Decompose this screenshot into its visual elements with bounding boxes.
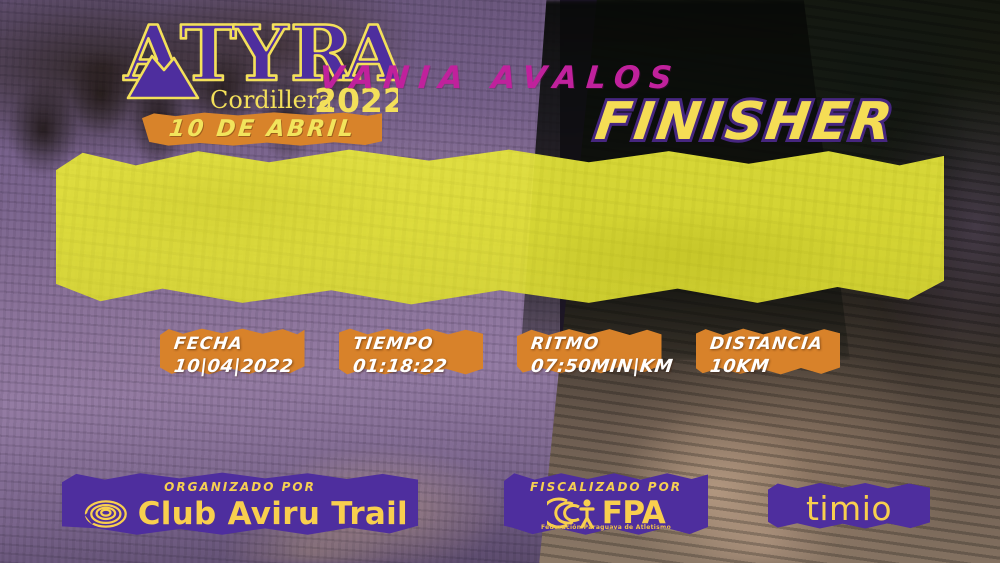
status-badge: FINISHER	[592, 92, 899, 152]
athlete-name-banner	[56, 148, 944, 306]
stat-value: 01:18:22	[351, 356, 448, 377]
event-date-ribbon: 10 DE ABRIL	[142, 112, 382, 146]
stats-row: FECHA 10|04|2022 TIEMPO 01:18:22 RITMO 0…	[160, 328, 840, 388]
stat-label: DISTANCIA	[708, 334, 824, 354]
sanctioner-kicker: FISCALIZADO POR	[504, 480, 708, 494]
stat-fecha: FECHA 10|04|2022	[160, 328, 305, 386]
stat-value: 10KM	[708, 356, 824, 377]
stat-distancia: DISTANCIA 10KM	[696, 328, 841, 386]
stat-ritmo: RITMO 07:50MIN|KM	[517, 328, 662, 386]
event-date-text: 10 DE ABRIL	[167, 116, 356, 142]
stat-value: 07:50MIN|KM	[530, 356, 675, 377]
finisher-certificate: A T Y R A Cordillera 2022 10 DE ABRIL FI…	[0, 0, 1000, 563]
stat-label: FECHA	[173, 334, 295, 354]
organizer-name: Club Aviru Trail	[138, 496, 408, 532]
sponsor-timing: timio	[768, 482, 930, 530]
stat-value: 10|04|2022	[173, 356, 295, 377]
athlete-name: VANIA AVALOS	[0, 60, 1000, 96]
stat-tiempo: TIEMPO 01:18:22	[339, 328, 484, 386]
stat-label: RITMO	[530, 334, 674, 354]
sponsor-organizer: ORGANIZADO POR Club Aviru Trail	[62, 472, 418, 536]
timing-name: timio	[768, 489, 930, 528]
stat-label: TIEMPO	[351, 334, 448, 354]
sponsor-sanctioner: FISCALIZADO POR FPA Federación Paraguaya…	[504, 472, 708, 536]
banner-texture	[56, 148, 944, 306]
